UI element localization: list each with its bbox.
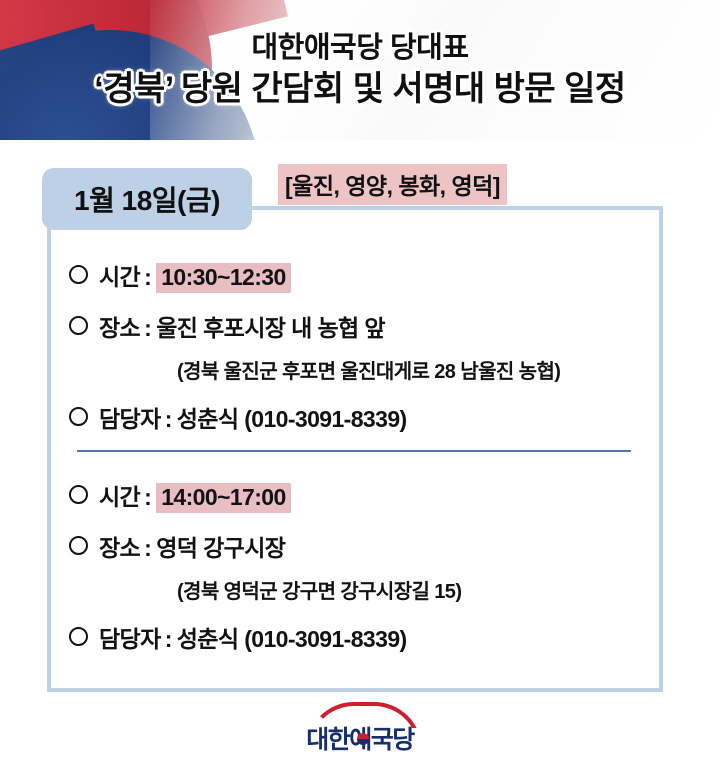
- schedule-card: 시간 : 10:30~12:30 장소 : 울진 후포시장 내 농협 앞 (경북…: [47, 206, 663, 692]
- title-line-1: 대한애국당 당대표: [252, 30, 469, 66]
- time-label: 시간: [99, 478, 140, 512]
- colon-separator: :: [165, 626, 172, 653]
- place-address: (경북 울진군 후포면 울진대게로 28 남울진 농협): [177, 355, 659, 384]
- date-badge: 1월 18일(금): [42, 168, 252, 230]
- circle-bullet-icon: [69, 485, 88, 504]
- place-address: (경북 영덕군 강구면 강구시장길 15): [177, 575, 659, 604]
- block-divider: [77, 450, 631, 452]
- footer: 대한애국당: [0, 700, 720, 780]
- time-value: 14:00~17:00: [156, 483, 290, 513]
- colon-separator: :: [144, 264, 151, 291]
- time-value: 10:30~12:30: [156, 263, 290, 293]
- header-banner: 대한애국당 당대표 ‘경북’ 당원 간담회 및 서명대 방문 일정: [0, 0, 720, 140]
- colon-separator: :: [165, 406, 172, 433]
- colon-separator: :: [144, 535, 151, 562]
- schedule-contact-row: 담당자 : 성춘식 (010-3091-8339): [69, 620, 659, 654]
- schedule-place-row: 장소 : 울진 후포시장 내 농협 앞: [69, 309, 659, 343]
- schedule-time-row: 시간 : 10:30~12:30: [69, 258, 659, 293]
- page-title: 대한애국당 당대표 ‘경북’ 당원 간담회 및 서명대 방문 일정: [0, 0, 720, 140]
- badge-row: 1월 18일(금) [울진, 영양, 봉화, 영덕]: [0, 160, 720, 240]
- place-label: 장소: [99, 309, 140, 343]
- place-value: 영덕 강구시장: [156, 529, 285, 563]
- logo-text: 대한애국당: [306, 726, 414, 760]
- circle-bullet-icon: [69, 407, 88, 426]
- place-value: 울진 후포시장 내 농협 앞: [156, 309, 385, 343]
- schedule-contact-row: 담당자 : 성춘식 (010-3091-8339): [69, 400, 659, 434]
- circle-bullet-icon: [69, 536, 88, 555]
- circle-bullet-icon: [69, 316, 88, 335]
- place-label: 장소: [99, 529, 140, 563]
- poster-root: 대한애국당 당대표 ‘경북’ 당원 간담회 및 서명대 방문 일정 1월 18일…: [0, 0, 720, 780]
- party-logo: 대한애국당: [285, 700, 435, 760]
- contact-value: 성춘식 (010-3091-8339): [177, 620, 407, 654]
- contact-label: 담당자: [99, 400, 161, 434]
- region-label: [울진, 영양, 봉화, 영덕]: [278, 164, 507, 205]
- schedule-place-row: 장소 : 영덕 강구시장: [69, 529, 659, 563]
- contact-value: 성춘식 (010-3091-8339): [177, 400, 407, 434]
- colon-separator: :: [144, 484, 151, 511]
- contact-label: 담당자: [99, 620, 161, 654]
- circle-bullet-icon: [69, 627, 88, 646]
- schedule-time-row: 시간 : 14:00~17:00: [69, 478, 659, 513]
- circle-bullet-icon: [69, 265, 88, 284]
- colon-separator: :: [144, 315, 151, 342]
- time-label: 시간: [99, 258, 140, 292]
- title-line-2: ‘경북’ 당원 간담회 및 서명대 방문 일정: [94, 68, 625, 110]
